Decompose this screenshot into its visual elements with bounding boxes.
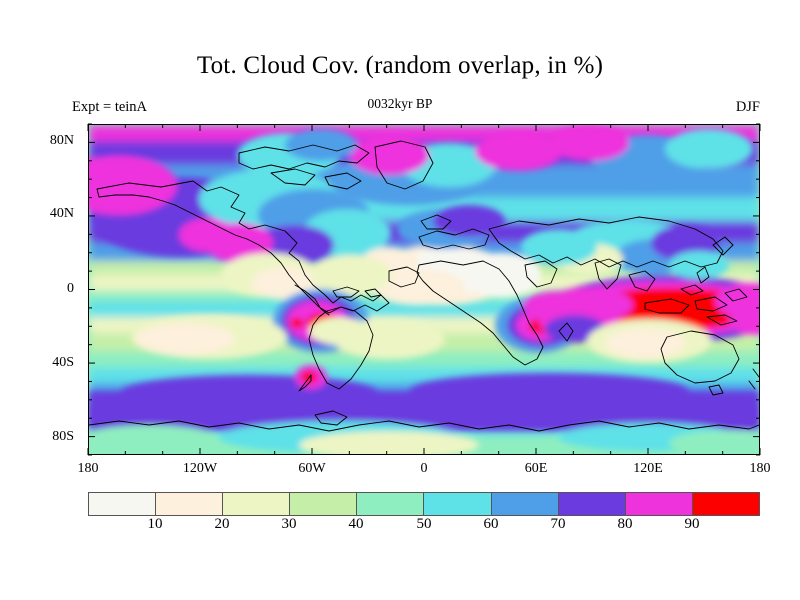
map-plot-area	[88, 124, 760, 455]
x-tick-label-0: 0	[389, 461, 459, 477]
season-label: DJF	[736, 99, 760, 116]
y-tick-label-80s: 80S	[28, 429, 74, 445]
cloud-cover-map-figure: Tot. Cloud Cov. (random overlap, in %) E…	[0, 0, 800, 600]
colorbar-band-20-30	[223, 493, 290, 515]
x-tick-label-60w: 60W	[277, 461, 347, 477]
colorbar-tick-30: 30	[259, 516, 319, 533]
figure-title: Tot. Cloud Cov. (random overlap, in %)	[0, 52, 800, 80]
x-tick-label-120e: 120E	[613, 461, 683, 477]
colorbar-tick-80: 80	[595, 516, 655, 533]
colorbar-band-10-20	[156, 493, 223, 515]
colorbar-tick-90: 90	[662, 516, 722, 533]
colorbar-band-70-80	[559, 493, 626, 515]
colorbar-tick-60: 60	[461, 516, 521, 533]
colorbar-band-60-70	[492, 493, 559, 515]
colorbar-band-0-10	[89, 493, 156, 515]
x-tick-label-120w: 120W	[165, 461, 235, 477]
contour-fill-layer	[89, 125, 759, 454]
colorbar-band-30-40	[290, 493, 357, 515]
y-tick-label-80n: 80N	[28, 133, 74, 149]
map-canvas	[89, 125, 759, 454]
colorbar-tick-20: 20	[192, 516, 252, 533]
x-tick-label-180w: 180	[53, 461, 123, 477]
time-period-label: 0032kyr BP	[0, 96, 800, 112]
colorbar-tick-70: 70	[528, 516, 588, 533]
colorbar-tick-10: 10	[125, 516, 185, 533]
colorbar-band-90-100	[693, 493, 759, 515]
colorbar-band-40-50	[357, 493, 424, 515]
colorbar-band-80-90	[626, 493, 693, 515]
colorbar-tick-50: 50	[394, 516, 454, 533]
x-tick-label-60e: 60E	[501, 461, 571, 477]
y-tick-label-40n: 40N	[28, 206, 74, 222]
colorbar	[88, 492, 760, 516]
colorbar-band-50-60	[424, 493, 491, 515]
colorbar-tick-40: 40	[326, 516, 386, 533]
y-tick-label-0: 0	[28, 281, 74, 297]
x-tick-label-180e: 180	[725, 461, 795, 477]
y-tick-label-40s: 40S	[28, 355, 74, 371]
